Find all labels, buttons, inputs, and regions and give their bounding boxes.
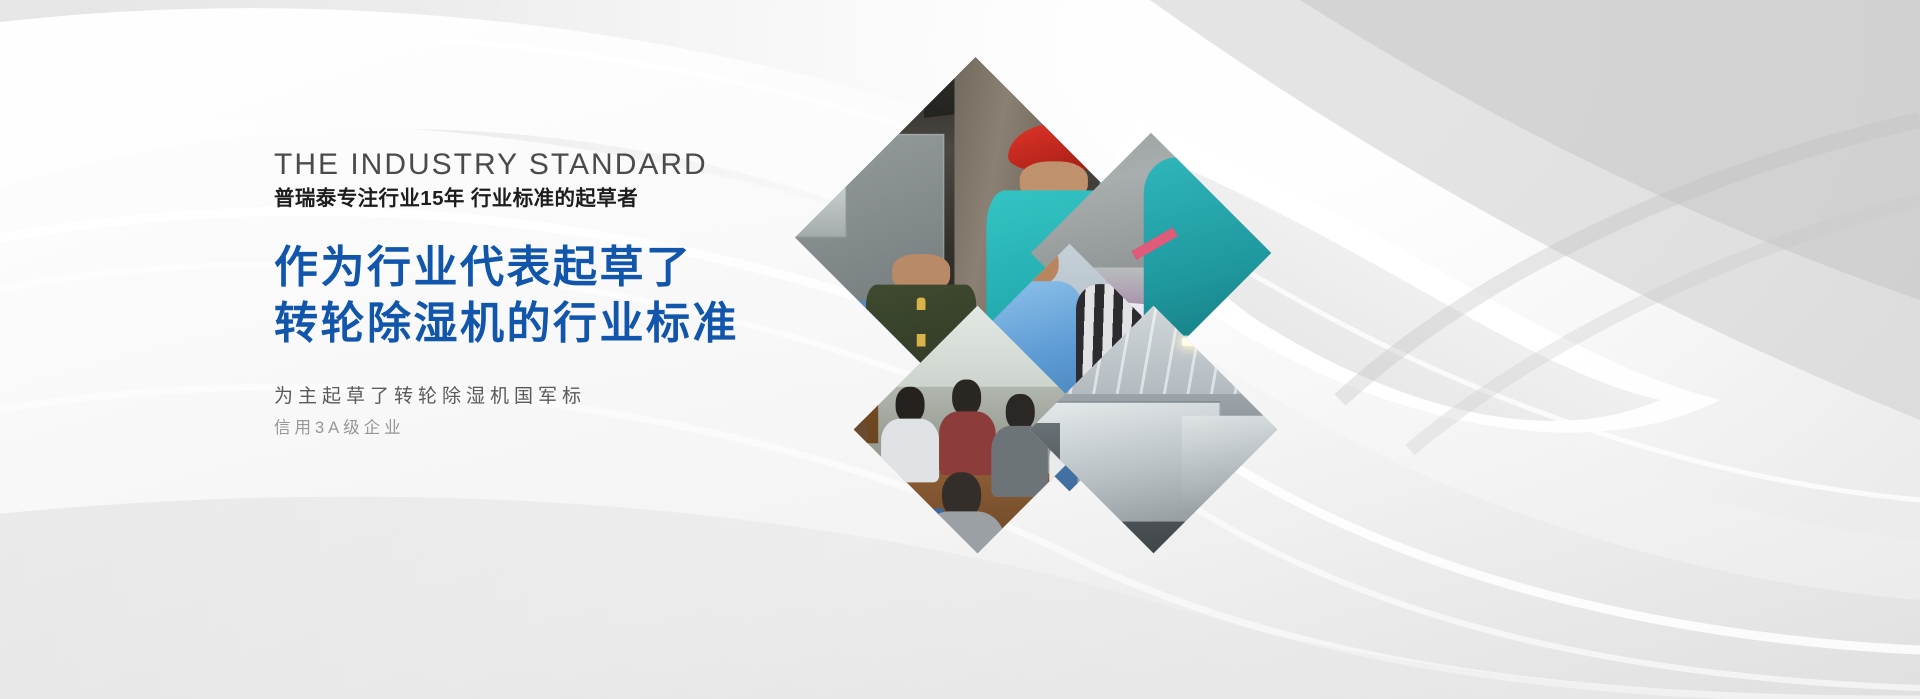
- eyebrow-english: THE INDUSTRY STANDARD: [274, 150, 914, 180]
- eyebrow-chinese: 普瑞泰专注行业15年 行业标准的起草者: [274, 189, 914, 210]
- diamond-photo-collage: [830, 80, 1300, 500]
- banner-copy-block: THE INDUSTRY STANDARD 普瑞泰专注行业15年 行业标准的起草…: [274, 150, 914, 437]
- subtitle-line-2: 信用3A级企业: [274, 420, 914, 437]
- subtitle-line-1: 为主起草了转轮除湿机国军标: [274, 387, 914, 406]
- headline-line-2: 转轮除湿机的行业标准: [274, 296, 914, 353]
- hero-banner: THE INDUSTRY STANDARD 普瑞泰专注行业15年 行业标准的起草…: [0, 0, 1920, 699]
